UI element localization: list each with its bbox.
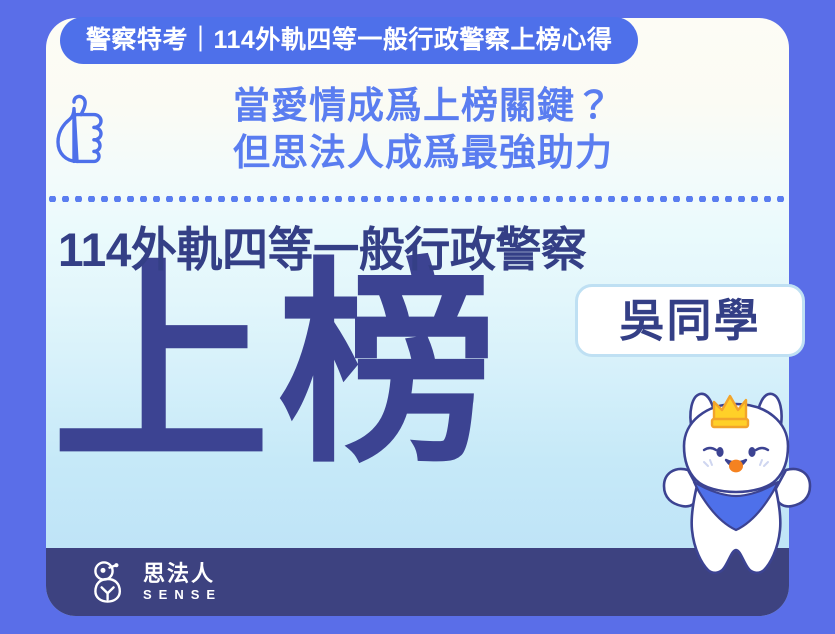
exam-title: 114外軌四等一般行政警察 — [58, 226, 587, 273]
crowned-bunny-mascot-icon — [636, 378, 835, 578]
dotted-divider — [46, 196, 786, 202]
banner-label: 警察特考｜114外軌四等一般行政警察上榜心得 — [86, 28, 612, 53]
student-name-badge: 吳同學 — [575, 284, 805, 357]
brand-name: 思法人 — [143, 563, 222, 585]
success-headline: 上榜 — [52, 258, 504, 476]
brand-lockup: 思法人 SENSE — [90, 560, 222, 604]
poster-root: 警察特考｜114外軌四等一般行政警察上榜心得 當愛情成爲上榜關鍵？ 但思法人成爲… — [0, 0, 835, 634]
student-name: 吳同學 — [619, 298, 760, 343]
headline: 當愛情成爲上榜關鍵？ 但思法人成爲最強助力 — [128, 82, 718, 177]
sense-owl-logo-icon — [90, 560, 132, 604]
thumbs-up-icon — [48, 92, 112, 164]
brand-words: 思法人 SENSE — [143, 563, 222, 601]
banner-pill: 警察特考｜114外軌四等一般行政警察上榜心得 — [60, 17, 638, 64]
headline-line-2: 但思法人成爲最強助力 — [128, 129, 718, 176]
brand-sub: SENSE — [143, 588, 222, 601]
headline-line-1: 當愛情成爲上榜關鍵？ — [128, 82, 718, 129]
